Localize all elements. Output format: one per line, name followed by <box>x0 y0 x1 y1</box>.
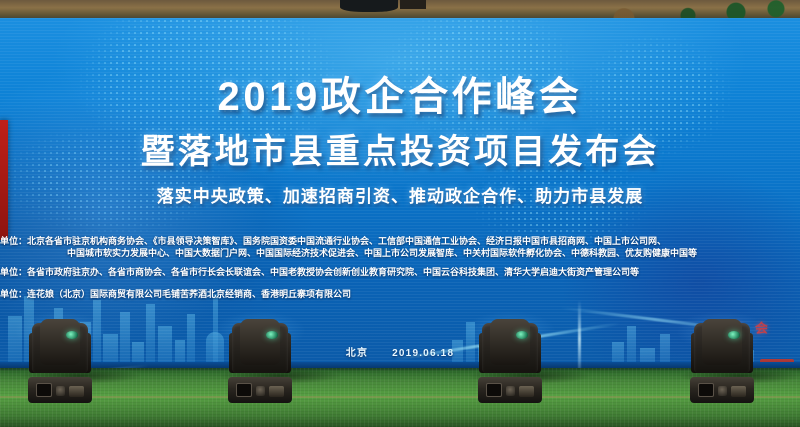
credit-line-3: 单位：各省市政府驻京办、各省市商协会、各省市行长会长联谊会、中国老教授协会创新创… <box>0 267 786 279</box>
moving-head-light-4 <box>690 317 754 403</box>
light-base <box>228 377 292 403</box>
moving-head-light-1 <box>28 317 92 403</box>
banner-subtitle: 落实中央政策、加速招商引资、推动政企合作、助力市县发展 <box>0 182 800 207</box>
stage-photo: 2019政企合作峰会 暨落地市县重点投资项目发布会 落实中央政策、加速招商引资、… <box>0 0 800 427</box>
light-knob[interactable] <box>718 386 727 396</box>
light-lens-icon <box>66 331 78 339</box>
light-control-panel[interactable] <box>486 383 502 397</box>
light-control-panel[interactable] <box>698 383 714 397</box>
light-display <box>731 386 746 397</box>
light-lens-icon <box>728 331 740 339</box>
light-knob[interactable] <box>56 386 65 396</box>
credit-line-1: 单位：北京各省市驻京机构商务协会、《市县领导决策智库》、国务院国资委中国流通行业… <box>0 236 786 248</box>
light-knob[interactable] <box>506 386 515 396</box>
light-lens-icon <box>266 331 278 339</box>
vertical-light-beam <box>578 300 581 378</box>
light-head <box>240 319 280 365</box>
light-base <box>28 377 92 403</box>
light-head <box>40 319 80 365</box>
light-knob[interactable] <box>256 386 265 396</box>
moving-head-light-2 <box>228 317 292 403</box>
organizer-credits: 单位：北京各省市驻京机构商务协会、《市县领导决策智库》、国务院国资委中国流通行业… <box>0 236 786 300</box>
floor-seam <box>0 396 800 398</box>
light-control-panel[interactable] <box>36 383 52 397</box>
banner-title-line2: 暨落地市县重点投资项目发布会 <box>0 124 800 173</box>
light-base <box>478 377 542 403</box>
light-head <box>702 319 742 365</box>
credit-line-4: 单位：连花娘（北京）国际商贸有限公司毛铺苦荞酒北京经销商、香港明丘寨项有限公司 <box>0 289 786 301</box>
light-display <box>69 386 84 397</box>
credit-line-2: 中国城市软实力发展中心、中国大数据门户网、中国国际经济技术促进会、中国上市公司发… <box>0 248 786 260</box>
light-display <box>519 386 534 397</box>
stage-floor <box>0 368 800 427</box>
ceiling-fixture <box>340 0 398 12</box>
light-head <box>490 319 530 365</box>
light-base <box>690 377 754 403</box>
light-display <box>269 386 284 397</box>
moving-head-light-3 <box>478 317 542 403</box>
light-control-panel[interactable] <box>236 383 252 397</box>
light-lens-icon <box>516 331 528 339</box>
ceiling-fixture-small <box>400 0 426 9</box>
banner-title-line1: 2019政企合作峰会 <box>0 64 800 122</box>
event-place: 北京 <box>346 348 368 359</box>
